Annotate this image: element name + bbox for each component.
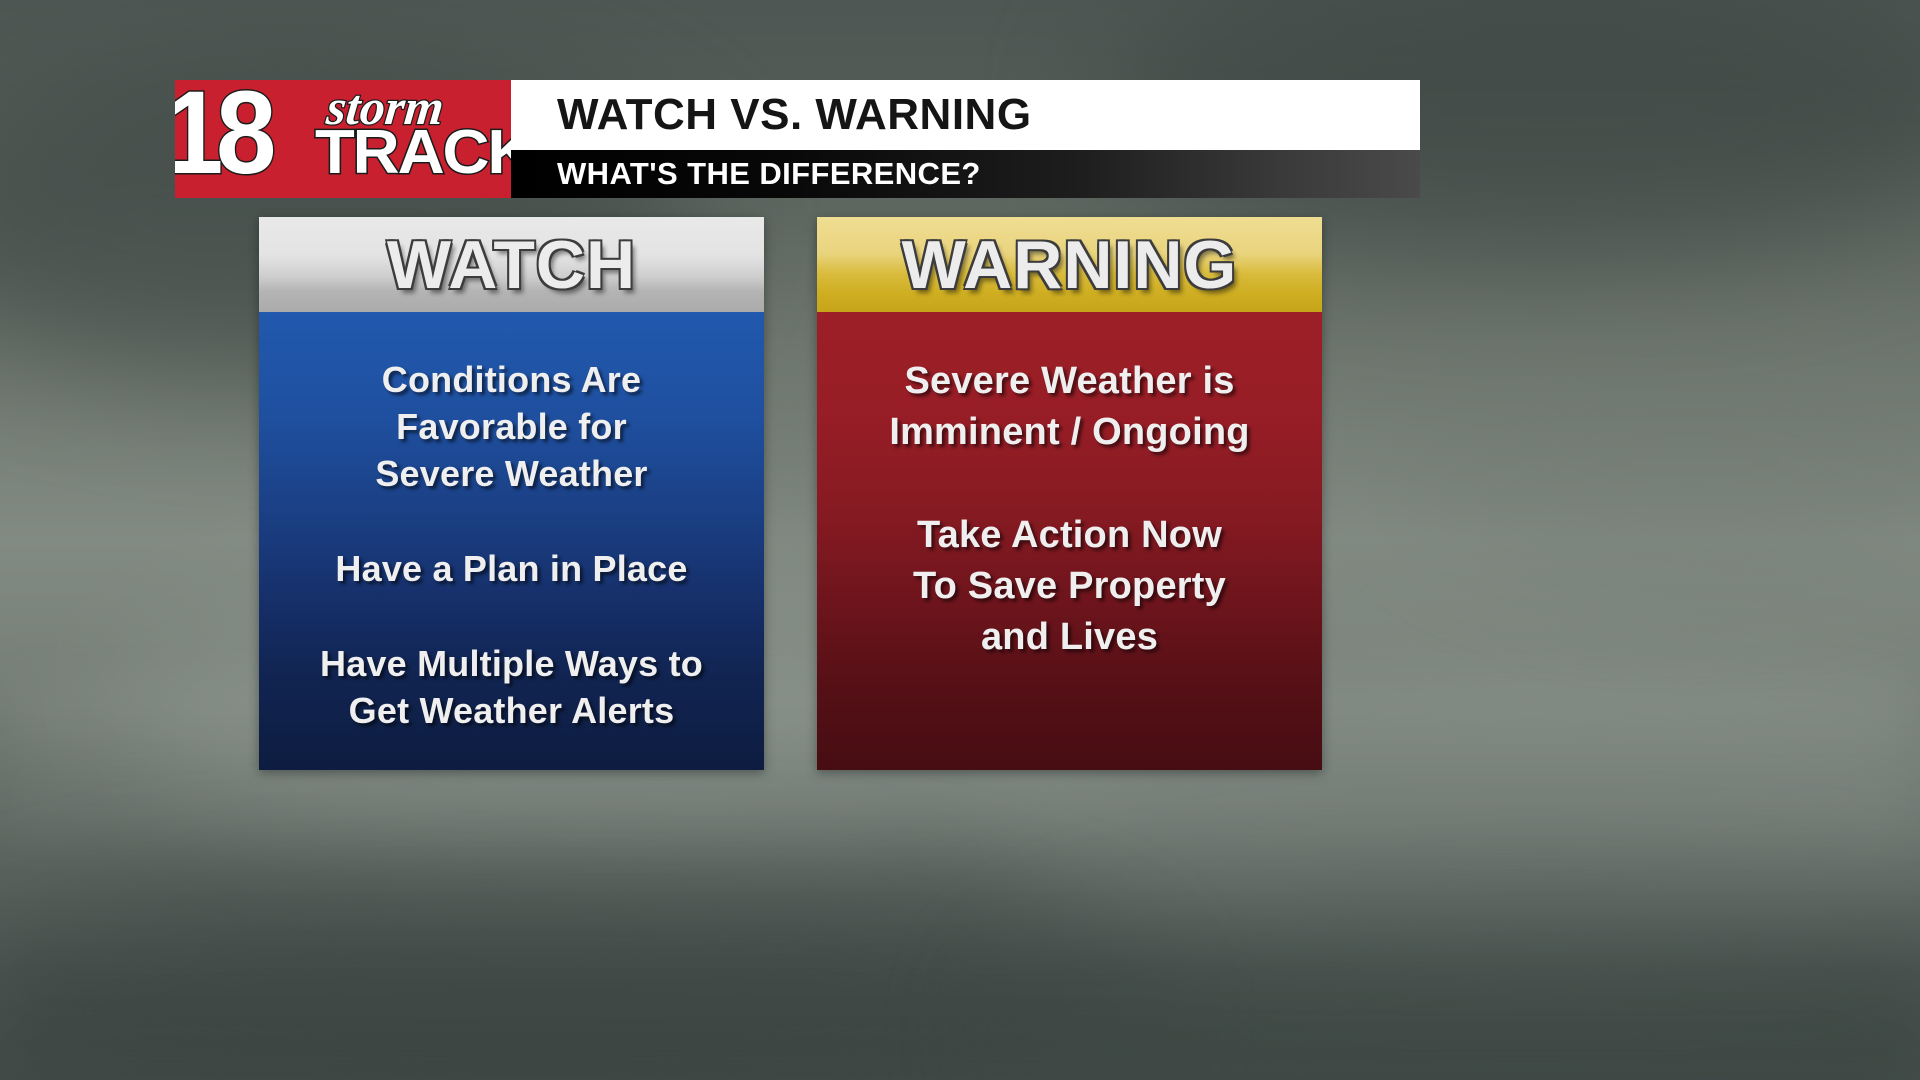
watch-point-line: Favorable for: [271, 403, 752, 450]
warning-point-line: and Lives: [829, 612, 1310, 663]
header-bar: 18 storm TRACK WATCH VS. WARNING WHAT'S …: [175, 80, 1420, 198]
warning-point: Take Action Now To Save Property and Liv…: [817, 510, 1322, 663]
subtitle-bar: WHAT'S THE DIFFERENCE?: [511, 150, 1420, 198]
watch-point-line: Get Weather Alerts: [271, 687, 752, 734]
title-bar: WATCH VS. WARNING: [511, 80, 1420, 150]
watch-panel-header: WATCH: [259, 217, 764, 312]
warning-panel: WARNING Severe Weather is Imminent / Ong…: [817, 217, 1322, 770]
page-subtitle: WHAT'S THE DIFFERENCE?: [557, 156, 981, 192]
logo-channel-number: 18: [175, 80, 269, 192]
page-title: WATCH VS. WARNING: [557, 90, 1032, 140]
cloud-streak: [0, 1030, 1920, 1080]
warning-point-line: To Save Property: [829, 561, 1310, 612]
warning-point-line: Imminent / Ongoing: [829, 407, 1310, 458]
watch-point-line: Conditions Are: [271, 356, 752, 403]
logo-track-word: TRACK: [315, 122, 511, 184]
warning-panel-body: Severe Weather is Imminent / Ongoing Tak…: [817, 312, 1322, 770]
warning-point: Severe Weather is Imminent / Ongoing: [817, 356, 1322, 458]
cloud-streak: [0, 780, 1920, 814]
warning-point-line: Take Action Now: [829, 510, 1310, 561]
watch-panel-body: Conditions Are Favorable for Severe Weat…: [259, 312, 764, 770]
watch-point-line: Have a Plan in Place: [271, 545, 752, 592]
warning-heading: WARNING: [902, 229, 1238, 301]
warning-point-line: Severe Weather is: [829, 356, 1310, 407]
watch-point: Have Multiple Ways to Get Weather Alerts: [259, 640, 764, 734]
watch-panel: WATCH Conditions Are Favorable for Sever…: [259, 217, 764, 770]
watch-heading: WATCH: [387, 229, 636, 301]
station-logo: 18 storm TRACK: [175, 80, 511, 198]
watch-point-line: Have Multiple Ways to: [271, 640, 752, 687]
cloud-streak: [0, 960, 1920, 1000]
weather-graphic: 18 storm TRACK WATCH VS. WARNING WHAT'S …: [0, 0, 1920, 1080]
watch-point: Conditions Are Favorable for Severe Weat…: [259, 356, 764, 497]
warning-panel-header: WARNING: [817, 217, 1322, 312]
watch-point: Have a Plan in Place: [259, 545, 764, 592]
watch-point-line: Severe Weather: [271, 450, 752, 497]
